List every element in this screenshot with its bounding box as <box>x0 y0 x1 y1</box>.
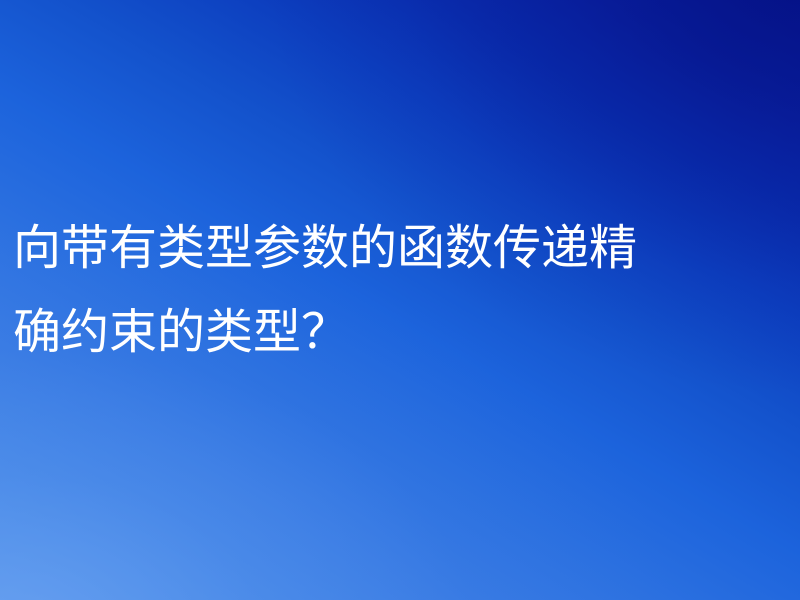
title-line-2: 确约束的类型？ <box>13 291 800 375</box>
page-title: 向带有类型参数的函数传递精 确约束的类型？ <box>13 207 800 375</box>
title-line-1: 向带有类型参数的函数传递精 <box>13 207 800 291</box>
title-card: 向带有类型参数的函数传递精 确约束的类型？ <box>0 0 800 600</box>
